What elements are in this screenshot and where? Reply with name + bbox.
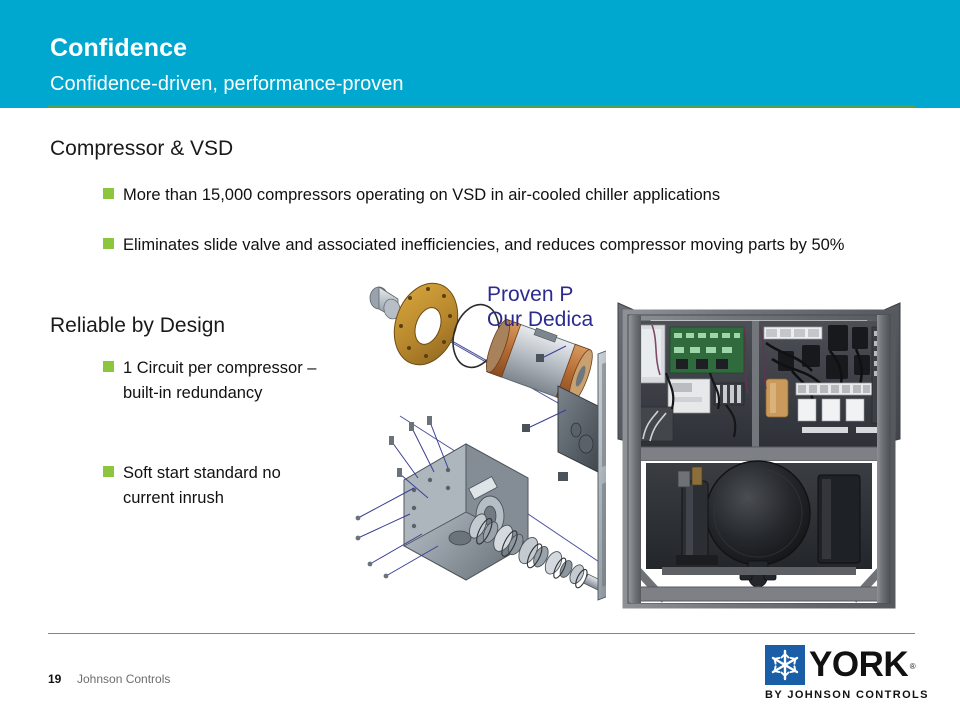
section-heading-compressor-vsd: Compressor & VSD — [50, 138, 233, 159]
footer-divider — [48, 633, 915, 634]
list-item-text: Soft start standard no current inrush — [123, 461, 333, 511]
bullet-square-icon — [103, 238, 114, 249]
bullet-square-icon — [103, 361, 114, 372]
exploded-compressor-diagram: Proven P Our Dedica — [352, 276, 634, 612]
list-item-text: Eliminates slide valve and associated in… — [123, 233, 844, 258]
figure-caption-line1: Proven P — [487, 283, 573, 306]
york-logo: YORK® BY JOHNSON CONTROLS — [765, 645, 915, 703]
vsd-cabinet-svg — [606, 297, 912, 613]
list-item: Eliminates slide valve and associated in… — [103, 233, 893, 258]
section-heading-reliable-by-design: Reliable by Design — [50, 315, 225, 336]
list-item: 1 Circuit per compressor – built-in redu… — [103, 356, 333, 406]
bullet-square-icon — [103, 466, 114, 477]
list-item: More than 15,000 compressors operating o… — [103, 183, 923, 208]
slide-header: Confidence Confidence-driven, performanc… — [0, 0, 960, 108]
page-subtitle: Confidence-driven, performance-proven — [50, 74, 404, 94]
list-item-text: More than 15,000 compressors operating o… — [123, 183, 720, 208]
york-logo-top: YORK® — [765, 645, 908, 685]
york-wordmark: YORK® — [809, 645, 908, 685]
york-tagline: BY JOHNSON CONTROLS — [765, 689, 929, 701]
vsd-control-cabinet-photo — [606, 297, 912, 613]
list-item-text: 1 Circuit per compressor – built-in redu… — [123, 356, 333, 406]
figure-caption: Proven P Our Dedica — [487, 282, 593, 332]
snowflake-icon — [765, 645, 805, 685]
page-number: 19 — [48, 673, 61, 685]
footer-organization: Johnson Controls — [77, 673, 170, 685]
list-item: Soft start standard no current inrush — [103, 461, 333, 511]
page-title: Confidence — [50, 36, 187, 61]
figure-caption-line2: Our Dedica — [487, 307, 593, 332]
bullet-square-icon — [103, 188, 114, 199]
registered-trademark-icon: ® — [910, 647, 915, 687]
york-wordmark-text: YORK — [809, 645, 908, 684]
